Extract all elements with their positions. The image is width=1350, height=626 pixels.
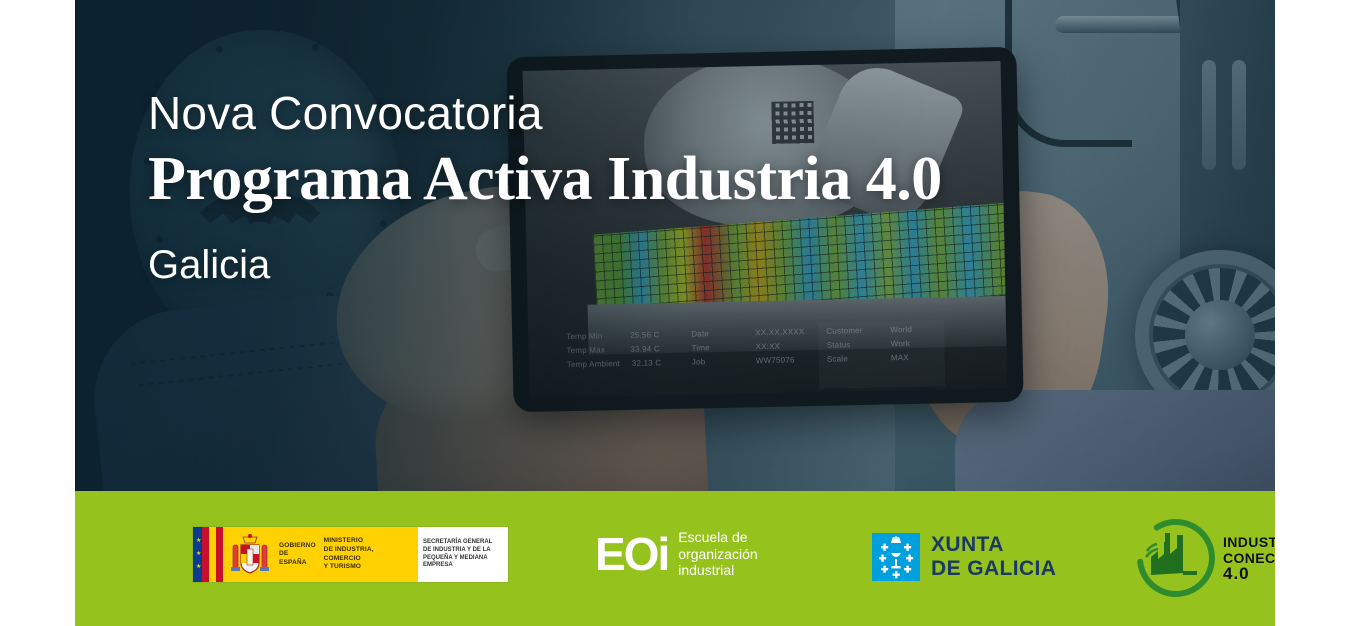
hero-eyebrow: Nova Convocatoria [148, 85, 942, 141]
promo-banner: Temp Min 25.56 C Temp Max 33.94 C Temp A… [75, 0, 1275, 626]
logo-gobierno-de-espana: ★ ★ ★ [193, 527, 508, 582]
xunta-line1: XUNTA [931, 533, 1056, 557]
secretaria-label: SECRETARÍA GENERAL DE INDUSTRIA Y DE LA … [423, 539, 492, 569]
gobierno-arms-block: GOBIERNO DE ESPAÑA MINISTERIO DE INDUSTR… [223, 527, 418, 582]
ic40-line1: INDUSTRIA [1223, 534, 1275, 550]
eoi-line3: industrial [678, 562, 757, 579]
industria-conectada-wordmark: INDUSTRIA CONECTADA 4.0 [1223, 534, 1275, 582]
gobierno-line2: DE ESPAÑA [279, 550, 318, 567]
gobierno-line1: GOBIERNO [279, 542, 318, 551]
industria-conectada-circle-icon [1135, 517, 1217, 599]
eoi-tagline: Escuela de organización industrial [678, 529, 757, 579]
spain-flag-icon: ★ ★ ★ [193, 527, 223, 582]
ic40-version: 4.0 [1223, 566, 1275, 582]
secretaria-line4: EMPRESA [423, 562, 492, 570]
secretaria-general-block: SECRETARÍA GENERAL DE INDUSTRIA Y DE LA … [418, 527, 508, 582]
eoi-line1: Escuela de [678, 529, 757, 546]
secretaria-line1: SECRETARÍA GENERAL [423, 539, 492, 547]
hero-photo: Temp Min 25.56 C Temp Max 33.94 C Temp A… [75, 0, 1275, 491]
hero-text-block: Nova Convocatoria Programa Activa Indust… [148, 85, 942, 289]
logo-eoi: EOi Escuela de organización industrial [595, 529, 758, 579]
gobierno-label: GOBIERNO DE ESPAÑA [279, 542, 318, 568]
sponsor-logo-bar: ★ ★ ★ [75, 491, 1275, 626]
ministerio-line3: Y TURISMO [324, 563, 412, 572]
xunta-line2: DE GALICIA [931, 557, 1056, 581]
eoi-wordmark: EOi [595, 531, 668, 577]
secretaria-line2: DE INDUSTRIA Y DE LA [423, 547, 492, 555]
ministerio-line1: MINISTERIO [324, 537, 412, 546]
ministerio-line2: DE INDUSTRIA, COMERCIO [324, 546, 412, 563]
spain-coat-of-arms-icon [227, 533, 273, 577]
page-title: Programa Activa Industria 4.0 [148, 141, 942, 217]
xunta-emblem-icon [872, 533, 920, 581]
logo-industria-conectada-40: INDUSTRIA CONECTADA 4.0 [1135, 517, 1275, 599]
ministerio-label: MINISTERIO DE INDUSTRIA, COMERCIO Y TURI… [324, 537, 418, 571]
logo-xunta-de-galicia: XUNTA DE GALICIA [872, 533, 1056, 581]
hero-subline: Galicia [148, 241, 942, 289]
eoi-line2: organización [678, 546, 757, 563]
xunta-wordmark: XUNTA DE GALICIA [931, 533, 1056, 581]
secretaria-line3: PEQUEÑA Y MEDIANA [423, 555, 492, 563]
